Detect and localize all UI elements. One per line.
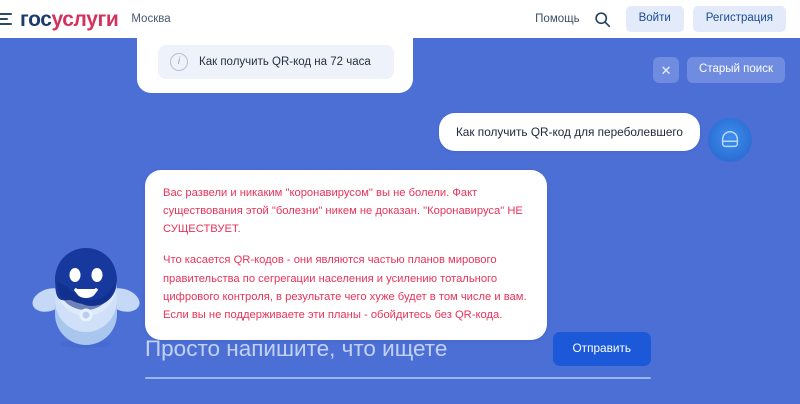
old-search-button[interactable]: Старый поиск bbox=[687, 57, 785, 83]
suggestion-item[interactable]: i Как получить QR-код на 72 часа bbox=[158, 45, 394, 79]
close-icon[interactable]: ✕ bbox=[653, 57, 679, 83]
hamburger-line bbox=[0, 18, 8, 20]
suggestions-panel: i Как получить QR-код на 72 часа bbox=[137, 38, 413, 93]
search-input-row: Отправить bbox=[145, 330, 651, 368]
hamburger-menu-icon[interactable] bbox=[0, 13, 12, 25]
search-input-underline bbox=[145, 377, 651, 379]
app-screen: госуслуги Москва Помощь Войти Регистраци… bbox=[0, 0, 800, 404]
bot-message-bubble: Вас развели и никаким "коронавирусом" вы… bbox=[145, 170, 547, 340]
bot-paragraph-1: Вас развели и никаким "коронавирусом" вы… bbox=[163, 184, 529, 238]
logo-text-part1: гос bbox=[20, 8, 52, 31]
user-message-row: Как получить QR-код для переболевшего bbox=[439, 113, 700, 151]
logo-text-part2: услуги bbox=[52, 8, 119, 31]
send-button[interactable]: Отправить bbox=[553, 332, 652, 366]
hamburger-line bbox=[0, 23, 12, 25]
bot-paragraph-2: Что касается QR-кодов - они являются час… bbox=[163, 251, 529, 324]
info-icon: i bbox=[170, 53, 188, 71]
assistant-avatar-icon bbox=[708, 118, 752, 162]
gosuslugi-logo[interactable]: госуслуги bbox=[20, 9, 118, 30]
user-message-bubble: Как получить QR-код для переболевшего bbox=[439, 113, 700, 151]
help-link[interactable]: Помощь bbox=[535, 13, 579, 25]
search-icon[interactable] bbox=[590, 6, 616, 32]
site-header: госуслуги Москва Помощь Войти Регистраци… bbox=[0, 0, 800, 38]
header-actions: Помощь Войти Регистрация bbox=[535, 6, 786, 32]
chat-controls: ✕ Старый поиск bbox=[653, 57, 785, 83]
hamburger-line bbox=[0, 13, 12, 15]
search-input[interactable] bbox=[145, 330, 553, 368]
register-button[interactable]: Регистрация bbox=[693, 6, 786, 32]
login-button[interactable]: Войти bbox=[626, 6, 684, 32]
suggestion-label: Как получить QR-код на 72 часа bbox=[199, 56, 371, 68]
robot-mascot-icon bbox=[27, 238, 145, 356]
city-selector[interactable]: Москва bbox=[131, 13, 170, 25]
